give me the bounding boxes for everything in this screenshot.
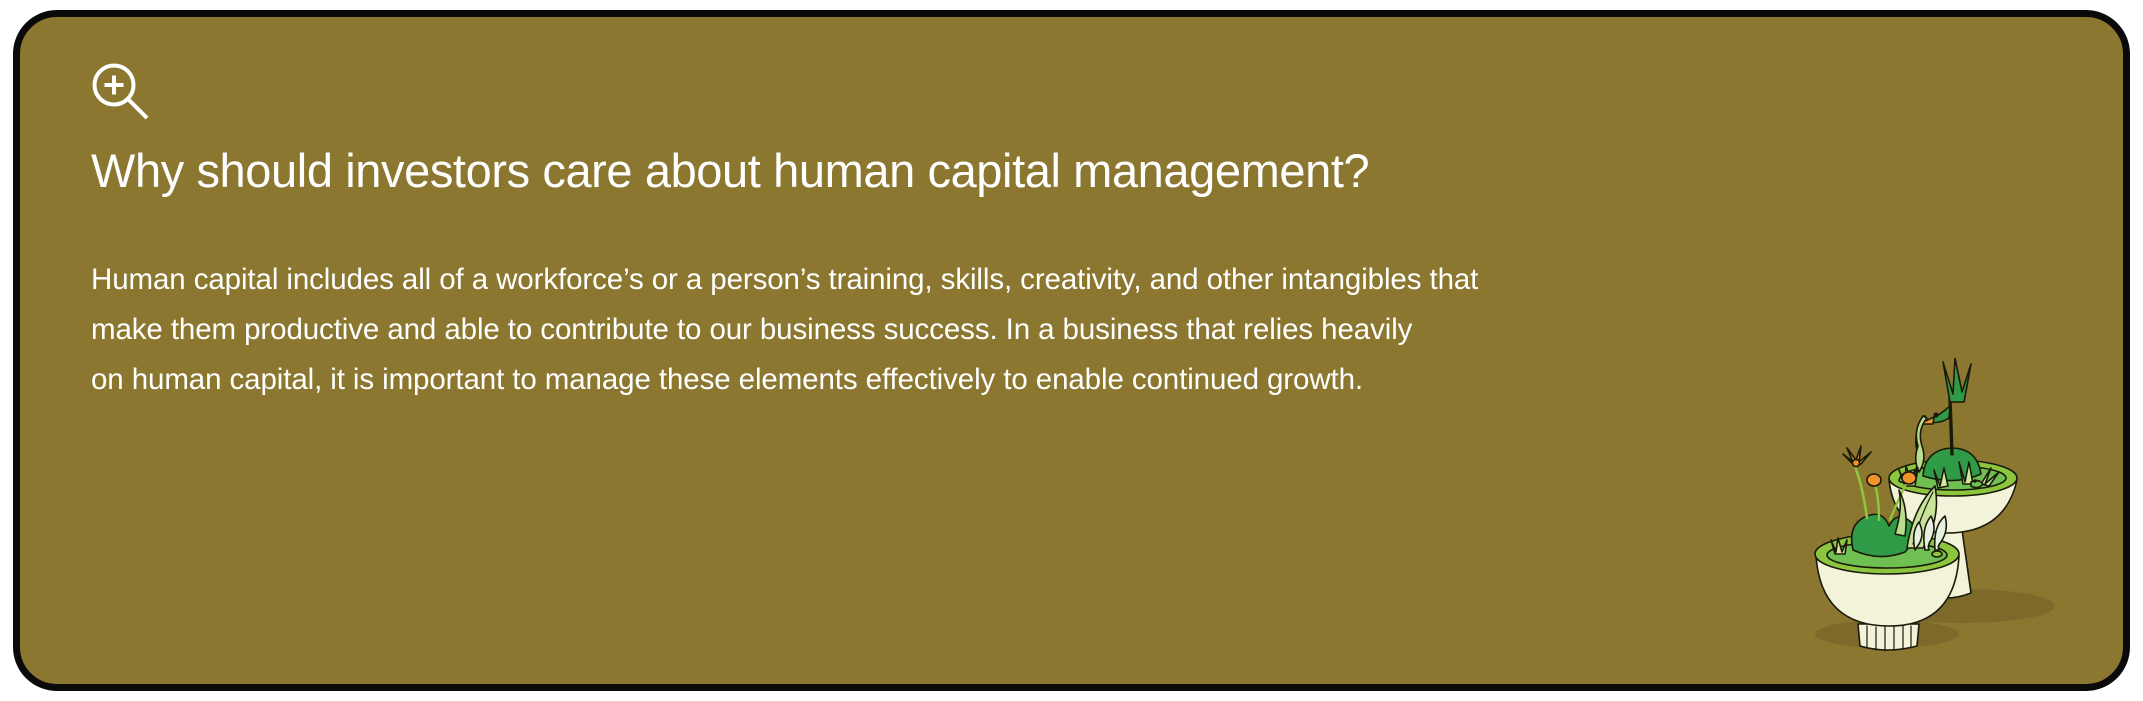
page-title: Why should investors care about human ca… bbox=[91, 143, 1369, 199]
body-paragraph: Human capital includes all of a workforc… bbox=[91, 255, 1971, 405]
planter-bowls-illustration bbox=[1795, 358, 2065, 658]
body-line: make them productive and able to contrib… bbox=[91, 305, 1971, 355]
body-line: Human capital includes all of a workforc… bbox=[91, 255, 1971, 305]
body-line: on human capital, it is important to man… bbox=[91, 355, 1971, 405]
info-card: Why should investors care about human ca… bbox=[13, 10, 2130, 691]
zoom-in-icon[interactable] bbox=[90, 61, 152, 123]
